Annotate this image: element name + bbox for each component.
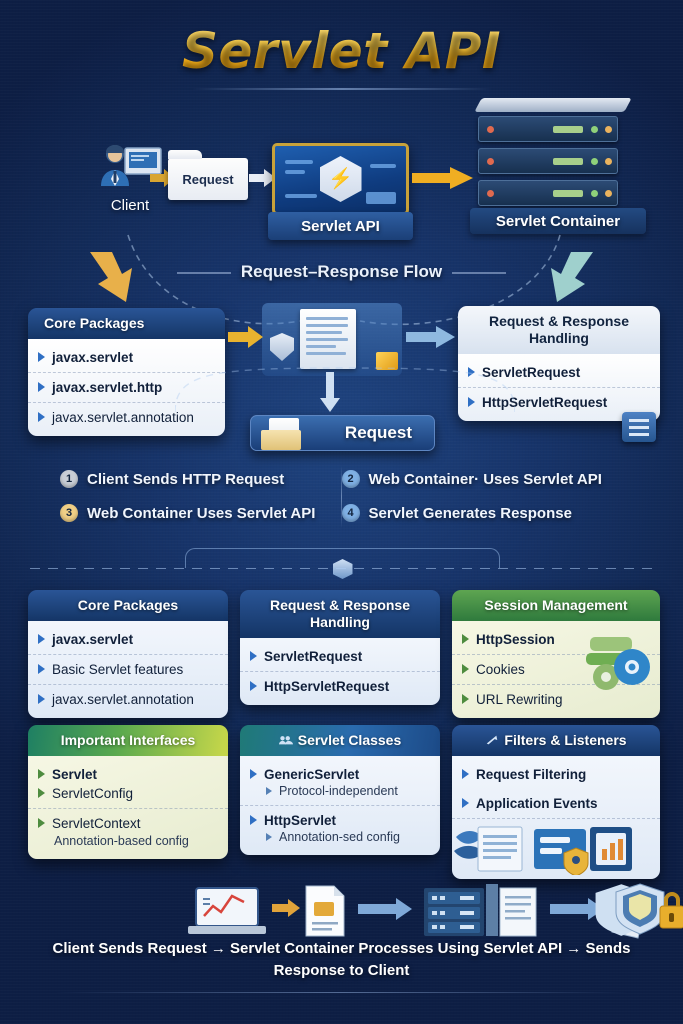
bullet-triangle-icon bbox=[38, 664, 45, 674]
footer-flow-icons bbox=[0, 880, 683, 946]
grid-card-session-management-body: HttpSession Cookies URL Rewriting bbox=[452, 621, 660, 718]
grid-card-filters-listeners-header: Filters & Listeners bbox=[452, 725, 660, 756]
filters-listeners-illustration bbox=[452, 819, 660, 875]
client-label: Client bbox=[90, 197, 170, 214]
grid-card-core-packages[interactable]: Core Packages javax.servlet Basic Servle… bbox=[28, 590, 228, 718]
list-item-label: Annotation-sed config bbox=[279, 830, 400, 844]
step-badge: 4 bbox=[342, 504, 360, 522]
steps-divider bbox=[341, 466, 342, 528]
list-item-label: ServletRequest bbox=[264, 649, 362, 664]
grid-card-core-packages-header: Core Packages bbox=[28, 590, 228, 621]
list-item-label: javax.servlet.annotation bbox=[52, 410, 194, 425]
bullet-triangle-icon bbox=[250, 769, 257, 779]
bullet-triangle-icon bbox=[250, 815, 257, 825]
list-item-label: javax.servlet bbox=[52, 632, 133, 647]
classes-icon bbox=[279, 734, 293, 746]
servlet-container-rack bbox=[478, 110, 628, 212]
poster-title-block: Servlet API bbox=[0, 22, 683, 90]
step-label: Web Container Uses Servlet API bbox=[87, 505, 315, 522]
list-item[interactable]: ServletContext bbox=[28, 809, 228, 833]
list-item-label: javax.servlet.annotation bbox=[52, 692, 194, 707]
title-divider bbox=[192, 88, 492, 90]
step-badge: 1 bbox=[60, 470, 78, 488]
grid-card-session-management-header: Session Management bbox=[452, 590, 660, 621]
list-item[interactable]: HttpServletRequest bbox=[240, 672, 440, 701]
step-label: Client Sends HTTP Request bbox=[87, 471, 284, 488]
list-item-label: GenericServlet bbox=[264, 767, 359, 782]
footer-summary-text: Client Sends Request → Servlet Container… bbox=[40, 938, 643, 982]
list-item[interactable]: Protocol-independent bbox=[240, 783, 440, 806]
request-pill[interactable]: Request bbox=[250, 415, 435, 451]
grid-card-filters-listeners[interactable]: Filters & Listeners Request Filtering Ap… bbox=[452, 725, 660, 879]
list-item-label: Cookies bbox=[476, 662, 525, 677]
menu-badge-icon[interactable] bbox=[622, 412, 656, 442]
grid-card-request-response[interactable]: Request & Response Handling ServletReque… bbox=[240, 590, 440, 705]
grid-card-core-packages-body: javax.servlet Basic Servlet features jav… bbox=[28, 621, 228, 718]
list-item[interactable]: ServletConfig bbox=[28, 784, 228, 809]
filters-icons-group bbox=[452, 819, 652, 875]
bullet-triangle-icon bbox=[38, 634, 45, 644]
step-badge: 3 bbox=[60, 504, 78, 522]
request-document: Request bbox=[168, 158, 248, 200]
list-item-label: HttpServlet bbox=[264, 813, 336, 828]
arrow-core-to-docs bbox=[228, 325, 264, 349]
gears-icon bbox=[580, 635, 654, 697]
list-item-label: javax.servlet bbox=[52, 350, 133, 365]
list-item[interactable]: HttpServlet bbox=[240, 806, 440, 829]
list-item[interactable]: GenericServlet bbox=[240, 760, 440, 783]
dashed-connector-bracket bbox=[175, 352, 515, 418]
bullet-triangle-icon bbox=[266, 833, 272, 841]
list-item[interactable]: javax.servlet bbox=[28, 625, 228, 655]
grid-card-servlet-classes[interactable]: Servlet Classes GenericServlet Protocol-… bbox=[240, 725, 440, 855]
list-item-label: Annotation-based config bbox=[54, 834, 189, 848]
list-item[interactable]: Application Events bbox=[452, 789, 660, 819]
grid-card-filters-listeners-body: Request Filtering Application Events bbox=[452, 756, 660, 879]
grid-card-filters-listeners-header-label: Filters & Listeners bbox=[504, 732, 626, 748]
list-item[interactable]: Annotation-sed config bbox=[240, 829, 440, 851]
grid-card-important-interfaces-header: Important Interfaces bbox=[28, 725, 228, 756]
bullet-triangle-icon bbox=[38, 382, 45, 392]
flow-label-text: Request–Response Flow bbox=[241, 262, 442, 281]
request-pill-label: Request bbox=[345, 423, 412, 443]
list-item-label: Protocol-independent bbox=[279, 784, 398, 798]
bullet-triangle-icon bbox=[462, 798, 469, 808]
core-packages-card-top-header: Core Packages bbox=[28, 308, 225, 339]
step-badge: 2 bbox=[342, 470, 360, 488]
bullet-triangle-icon bbox=[250, 651, 257, 661]
grid-card-session-management[interactable]: Session Management HttpSession Cookies U… bbox=[452, 590, 660, 718]
list-item[interactable]: Request Filtering bbox=[452, 760, 660, 789]
step-item: 3 Web Container Uses Servlet API bbox=[60, 504, 342, 522]
bullet-triangle-icon bbox=[38, 769, 45, 779]
bullet-triangle-icon bbox=[462, 694, 469, 704]
servlet-api-monitor: ⚡ bbox=[272, 143, 409, 215]
step-item: 1 Client Sends HTTP Request bbox=[60, 470, 342, 488]
list-item-label: Servlet bbox=[52, 767, 97, 782]
grid-card-servlet-classes-body: GenericServlet Protocol-independent Http… bbox=[240, 756, 440, 855]
request-response-handling-card-top-header: Request & Response Handling bbox=[458, 306, 660, 354]
grid-card-important-interfaces[interactable]: Important Interfaces Servlet ServletConf… bbox=[28, 725, 228, 859]
page-title: Servlet API bbox=[0, 22, 683, 80]
footer-icons-svg bbox=[0, 880, 683, 946]
list-item[interactable]: Basic Servlet features bbox=[28, 655, 228, 685]
list-item-label: Basic Servlet features bbox=[52, 662, 183, 677]
grid-card-important-interfaces-body: Servlet ServletConfig ServletContext Ann… bbox=[28, 756, 228, 859]
grid-card-servlet-classes-header-label: Servlet Classes bbox=[298, 732, 402, 748]
step-item: 2 Web Container· Uses Servlet API bbox=[342, 470, 624, 488]
request-response-flow-label: Request–Response Flow bbox=[0, 262, 683, 282]
section-divider bbox=[30, 568, 653, 569]
arrow-docs-to-handling bbox=[406, 325, 456, 349]
bullet-triangle-icon bbox=[462, 769, 469, 779]
list-item-label: javax.servlet.http bbox=[52, 380, 162, 395]
list-item-label: ServletContext bbox=[52, 816, 141, 831]
list-item-label: ServletConfig bbox=[52, 786, 133, 801]
list-item[interactable]: ServletRequest bbox=[240, 642, 440, 672]
grid-card-servlet-classes-header: Servlet Classes bbox=[240, 725, 440, 756]
step-item: 4 Servlet Generates Response bbox=[342, 504, 624, 522]
arrow-api-to-container bbox=[412, 166, 474, 190]
bullet-triangle-icon bbox=[38, 352, 45, 362]
bullet-triangle-icon bbox=[462, 634, 469, 644]
java-logo-icon: ⚡ bbox=[320, 156, 362, 202]
list-item[interactable]: Servlet bbox=[28, 760, 228, 784]
bullet-triangle-icon bbox=[38, 818, 45, 828]
footer-divider bbox=[55, 992, 628, 993]
step-label: Servlet Generates Response bbox=[369, 505, 572, 522]
filter-arrow-icon bbox=[485, 734, 499, 746]
list-item-label: Request Filtering bbox=[476, 767, 586, 782]
list-item-label: HttpSession bbox=[476, 632, 555, 647]
grid-card-request-response-body: ServletRequest HttpServletRequest bbox=[240, 638, 440, 705]
bracket-cube-icon bbox=[333, 559, 353, 579]
list-item-label: URL Rewriting bbox=[476, 692, 563, 707]
list-item-label: Application Events bbox=[476, 796, 598, 811]
folder-icon bbox=[261, 422, 307, 448]
section-bracket bbox=[185, 548, 500, 568]
bullet-triangle-icon bbox=[38, 412, 45, 422]
bullet-triangle-icon bbox=[38, 694, 45, 704]
bullet-triangle-icon bbox=[266, 787, 272, 795]
list-item-label: HttpServletRequest bbox=[264, 679, 389, 694]
bullet-triangle-icon bbox=[38, 788, 45, 798]
request-document-label: Request bbox=[182, 172, 233, 187]
steps-list: 1 Client Sends HTTP Request 2 Web Contai… bbox=[0, 470, 683, 522]
step-label: Web Container· Uses Servlet API bbox=[369, 471, 602, 488]
bullet-triangle-icon bbox=[462, 664, 469, 674]
list-item[interactable]: Annotation-based config bbox=[28, 833, 228, 855]
grid-card-request-response-header: Request & Response Handling bbox=[240, 590, 440, 638]
bullet-triangle-icon bbox=[250, 681, 257, 691]
list-item[interactable]: javax.servlet.annotation bbox=[28, 685, 228, 714]
